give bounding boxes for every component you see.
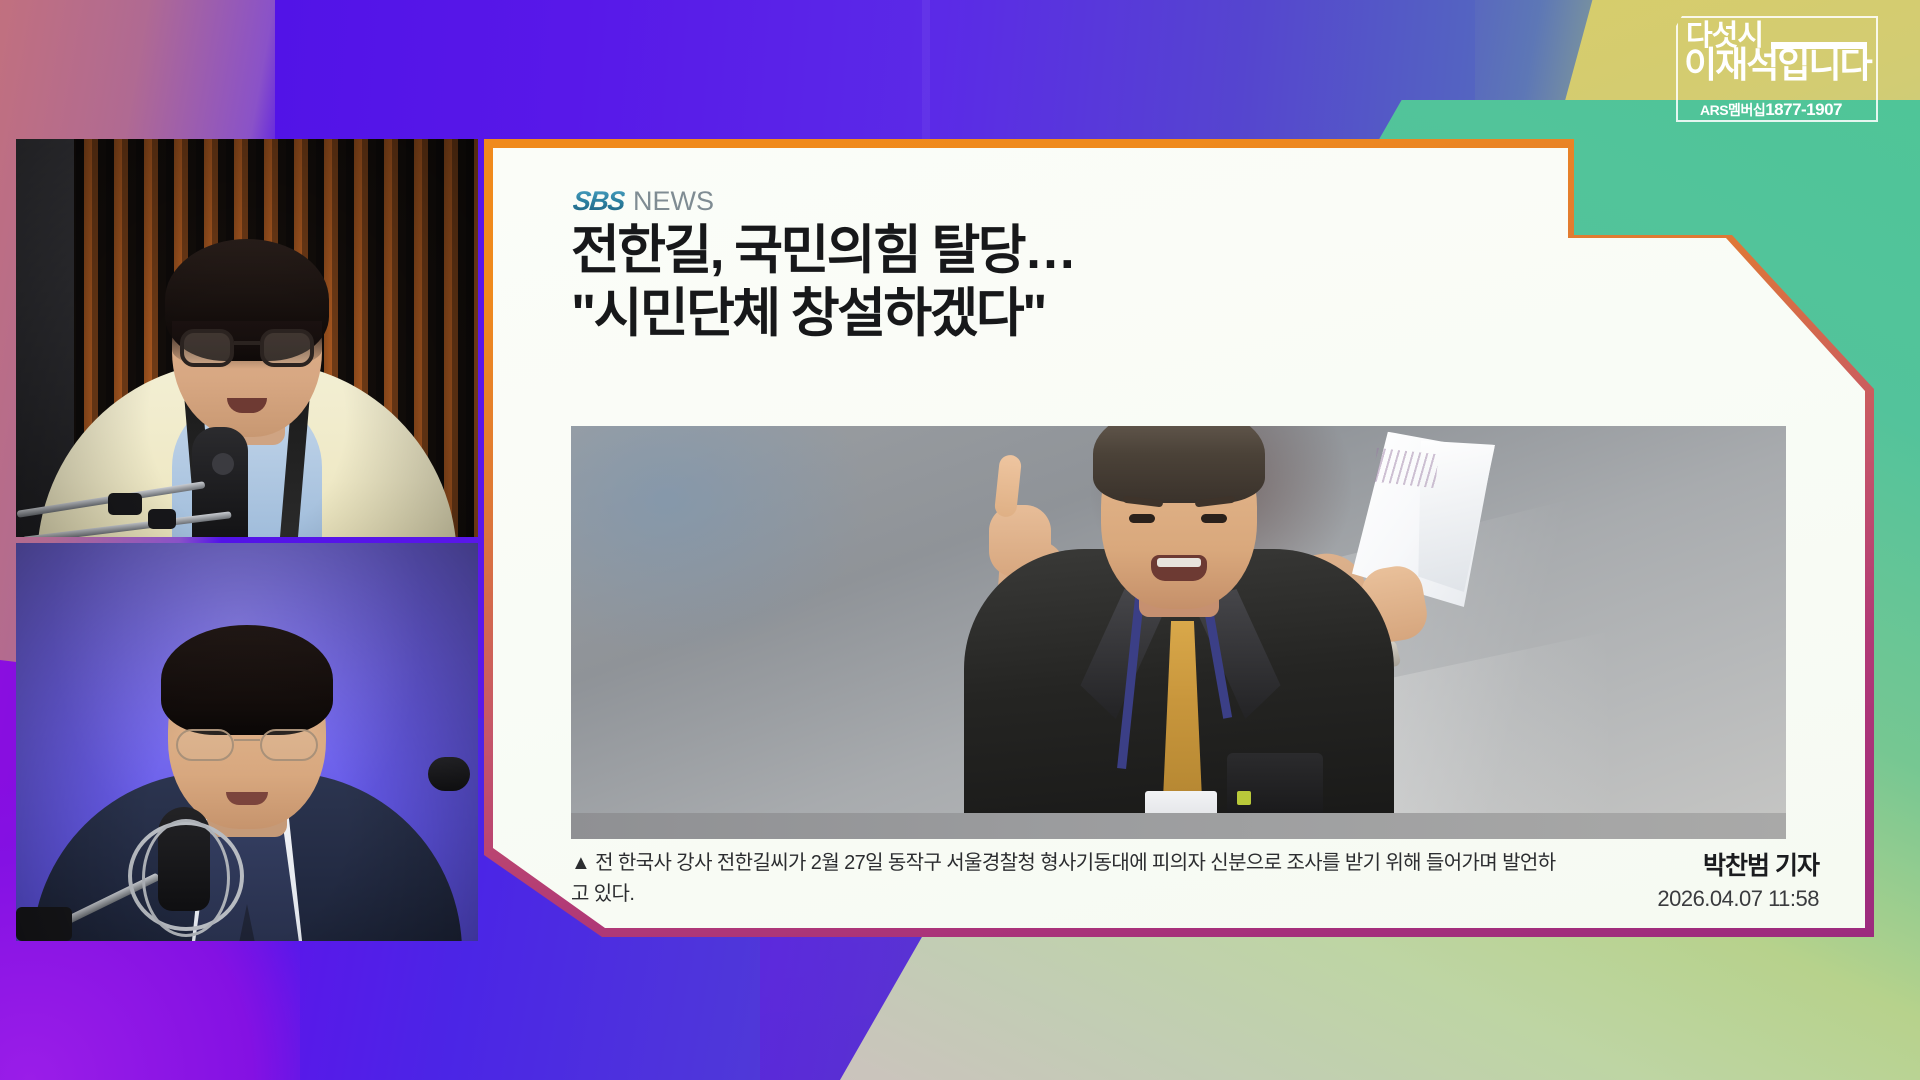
news-headline-line-1: 전한길, 국민의힘 탈당… [571,220,1771,283]
channel-logo: 다섯시 이재석입니다 ARS멤버십1877-1907 [1676,16,1878,122]
sbs-section-text: NEWS [633,186,714,217]
news-byline: 박찬범 기자 2026.04.07 11:58 [1657,846,1819,912]
subject-eye-right [1201,514,1227,523]
news-caption-text: 전 한국사 강사 전한길씨가 2월 27일 동작구 서울경찰청 형사기동대에 피… [571,852,1556,905]
photo-bottom-crop-strip [571,813,1786,839]
news-timestamp: 2026.04.07 11:58 [1657,886,1819,912]
photo-background-blur-left [571,426,871,656]
sbs-news-logo: SBS NEWS [573,186,714,217]
news-card: SBS NEWS 전한길, 국민의힘 탈당… "시민단체 창설하겠다" [484,139,1874,937]
channel-logo-membership: ARS멤버십1877-1907 [1700,100,1842,120]
video-tile-host[interactable] [16,139,478,537]
channel-logo-line2: 이재석입니다 [1684,47,1871,83]
video-tile-guest[interactable] [16,543,478,941]
news-headline: 전한길, 국민의힘 탈당… "시민단체 창설하겠다" [571,220,1771,345]
news-caption: ▲ 전 한국사 강사 전한길씨가 2월 27일 동작구 서울경찰청 형사기동대에… [571,848,1571,910]
studio-vignette [16,139,478,537]
subject-camera-indicator [1237,791,1251,805]
news-card-content: SBS NEWS 전한길, 국민의힘 탈당… "시민단체 창설하겠다" [493,148,1865,928]
subject-eye-left [1129,514,1155,523]
sbs-brand-text: SBS [571,186,625,217]
news-headline-line-2: "시민단체 창설하겠다" [571,283,1771,346]
news-photo: PRESS [571,426,1786,839]
subject-paper-handwriting [1373,448,1438,488]
news-reporter-name: 박찬범 기자 [1657,846,1819,882]
news-caption-marker: ▲ [571,852,590,874]
channel-logo-membership-label: ARS멤버십 [1700,102,1765,118]
subject-hair [1093,426,1265,503]
channel-logo-membership-number: 1877-1907 [1765,100,1842,119]
guest-vignette [16,543,478,941]
subject-teeth [1157,558,1201,567]
